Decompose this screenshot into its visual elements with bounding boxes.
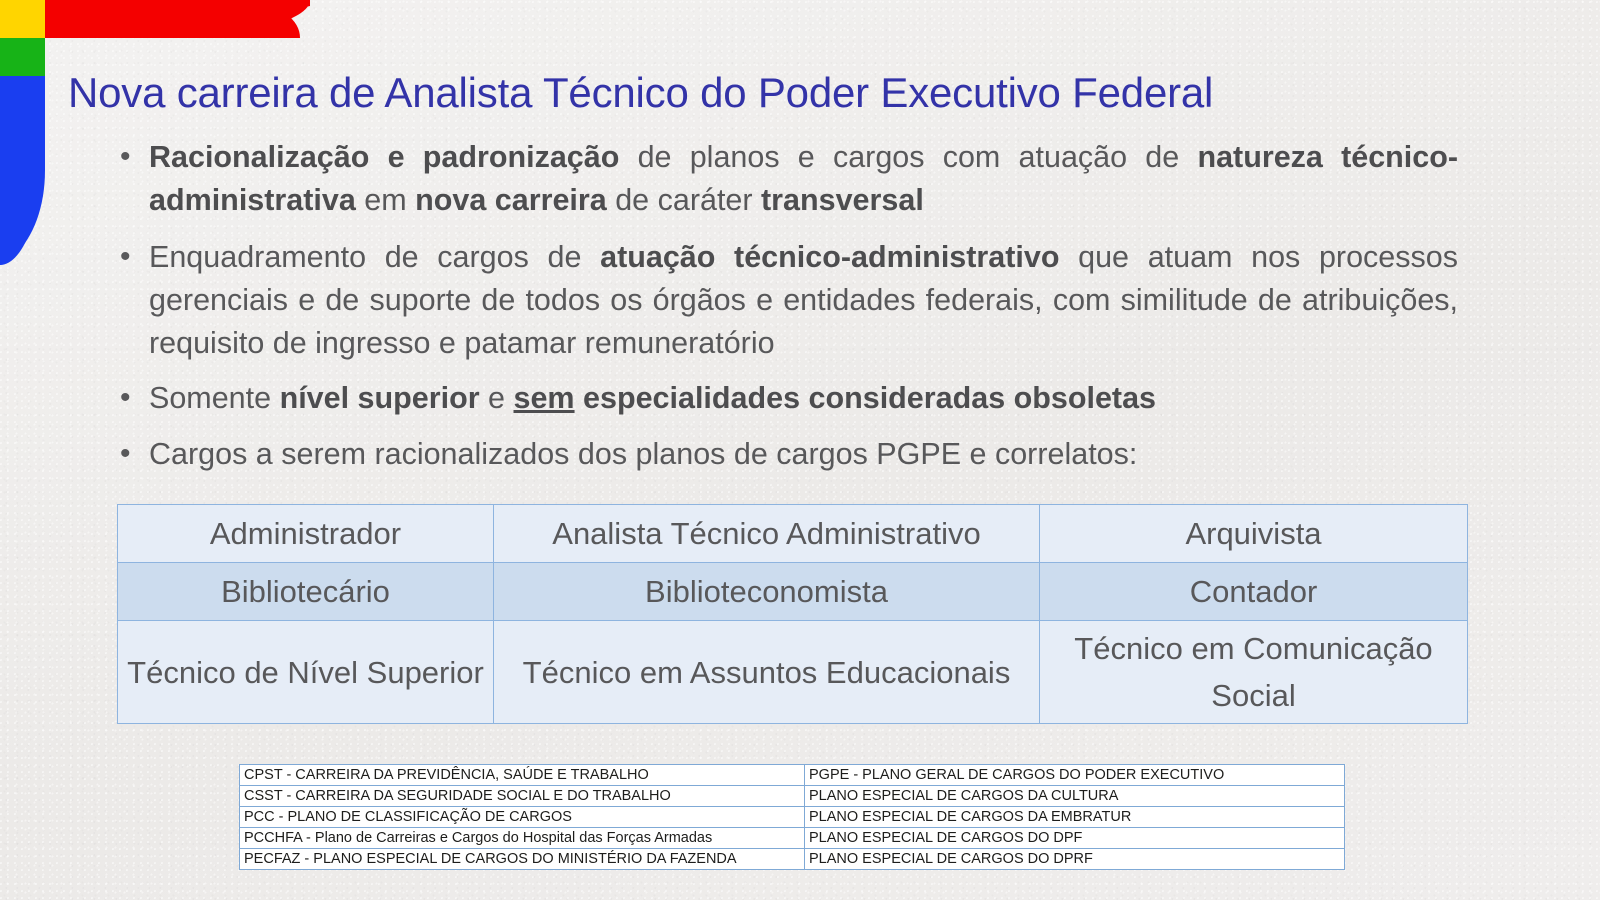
corner-yellow-block: [0, 0, 45, 38]
legend-cell-pcc: PCC - PLANO DE CLASSIFICAÇÃO DE CARGOS: [240, 807, 805, 828]
legend-row: CPST - CARREIRA DA PREVIDÊNCIA, SAÚDE E …: [240, 765, 1345, 786]
legend-cell-cultura: PLANO ESPECIAL DE CARGOS DA CULTURA: [805, 786, 1345, 807]
legend-cell-dpf: PLANO ESPECIAL DE CARGOS DO DPF: [805, 828, 1345, 849]
table-cell-tecnico-nivel-superior: Técnico de Nível Superior: [118, 621, 494, 724]
deco-red: [45, 0, 310, 38]
bullet-marker-icon: •: [113, 236, 149, 278]
bullet-list: • Racionalização e padronização de plano…: [113, 136, 1458, 487]
bullet-item-enquadramento: • Enquadramento de cargos de atuação téc…: [113, 236, 1458, 365]
legend-cell-embratur: PLANO ESPECIAL DE CARGOS DA EMBRATUR: [805, 807, 1345, 828]
deco-blue: [0, 76, 45, 265]
legend-row: PCC - PLANO DE CLASSIFICAÇÃO DE CARGOS P…: [240, 807, 1345, 828]
corner-green-block: [0, 38, 45, 76]
table-cell-analista-tecnico-administrativo: Analista Técnico Administrativo: [494, 505, 1040, 563]
table-cell-biblioteconomista: Biblioteconomista: [494, 563, 1040, 621]
corner-red-round: [45, 0, 300, 38]
bullet-marker-icon: •: [113, 377, 149, 419]
planos-carreiras-legend-table: CPST - CARREIRA DA PREVIDÊNCIA, SAÚDE E …: [239, 764, 1345, 870]
bullet-item-racionalizacao: • Racionalização e padronização de plano…: [113, 136, 1458, 222]
legend-row: PECFAZ - PLANO ESPECIAL DE CARGOS DO MIN…: [240, 849, 1345, 870]
page-title: Nova carreira de Analista Técnico do Pod…: [68, 66, 1213, 120]
bullet-text-enquadramento: Enquadramento de cargos de atuação técni…: [149, 236, 1458, 365]
bullet-text-cargos-racionalizados: Cargos a serem racionalizados dos planos…: [149, 433, 1458, 476]
table-cell-administrador: Administrador: [118, 505, 494, 563]
legend-cell-dprf: PLANO ESPECIAL DE CARGOS DO DPRF: [805, 849, 1345, 870]
bullet-text-racionalizacao: Racionalização e padronização de planos …: [149, 136, 1458, 222]
slide-canvas: Nova carreira de Analista Técnico do Pod…: [0, 0, 1600, 900]
legend-cell-cpst: CPST - CARREIRA DA PREVIDÊNCIA, SAÚDE E …: [240, 765, 805, 786]
corner-blue-band: [0, 76, 45, 265]
cargos-racionalizados-table: Administrador Analista Técnico Administr…: [117, 504, 1468, 724]
legend-cell-pgpe: PGPE - PLANO GERAL DE CARGOS DO PODER EX…: [805, 765, 1345, 786]
bullet-text-nivel-superior: Somente nível superior e sem especialida…: [149, 377, 1458, 420]
bullet-marker-icon: •: [113, 433, 149, 475]
corner-blue-curve: [0, 76, 45, 265]
table-row: Administrador Analista Técnico Administr…: [118, 505, 1468, 563]
bullet-item-cargos-racionalizados: • Cargos a serem racionalizados dos plan…: [113, 433, 1458, 476]
table-cell-contador: Contador: [1040, 563, 1468, 621]
bullet-marker-icon: •: [113, 136, 149, 178]
corner-red-curve: [45, 0, 300, 38]
bullet-item-nivel-superior: • Somente nível superior e sem especiali…: [113, 377, 1458, 420]
table-cell-bibliotecario: Bibliotecário: [118, 563, 494, 621]
corner-red-shape: [45, 0, 310, 38]
table-cell-arquivista: Arquivista: [1040, 505, 1468, 563]
table-cell-tecnico-assuntos-educacionais: Técnico em Assuntos Educacionais: [494, 621, 1040, 724]
legend-cell-pcchfa: PCCHFA - Plano de Carreiras e Cargos do …: [240, 828, 805, 849]
legend-cell-csst: CSST - CARREIRA DA SEGURIDADE SOCIAL E D…: [240, 786, 805, 807]
table-cell-tecnico-comunicacao-social: Técnico em Comunicação Social: [1040, 621, 1468, 724]
legend-row: CSST - CARREIRA DA SEGURIDADE SOCIAL E D…: [240, 786, 1345, 807]
table-row: Técnico de Nível Superior Técnico em Ass…: [118, 621, 1468, 724]
deco-yellow: [0, 0, 45, 38]
table-row: Bibliotecário Biblioteconomista Contador: [118, 563, 1468, 621]
legend-row: PCCHFA - Plano de Carreiras e Cargos do …: [240, 828, 1345, 849]
legend-cell-pecfaz: PECFAZ - PLANO ESPECIAL DE CARGOS DO MIN…: [240, 849, 805, 870]
deco-green: [0, 38, 45, 76]
